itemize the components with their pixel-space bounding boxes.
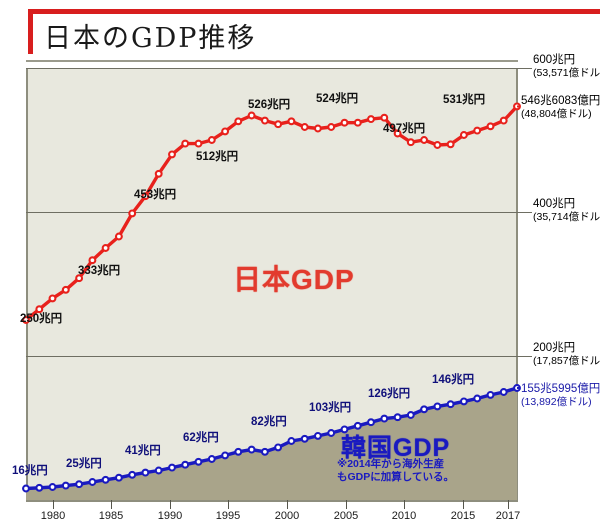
yaxis-label-japan-end-main: 546兆6083億円 bbox=[521, 95, 600, 108]
plot-right-edge bbox=[516, 68, 518, 500]
korea-footnote-line1: ※2014年から海外生産 bbox=[337, 458, 513, 471]
gridline-200 bbox=[26, 356, 518, 357]
x-axis-tick-label: 1995 bbox=[216, 510, 240, 522]
yaxis-label-korea-end-sub: (13,892億ドル) bbox=[521, 396, 600, 408]
title-rule-left bbox=[28, 9, 33, 54]
korea-value-label: 62兆円 bbox=[183, 429, 219, 445]
japan-value-label: 250兆円 bbox=[20, 310, 62, 326]
yaxis-label-korea-end-main: 155兆5995億円 bbox=[521, 383, 600, 396]
japan-value-label: 524兆円 bbox=[316, 90, 358, 106]
japan-value-label: 333兆円 bbox=[78, 262, 120, 278]
title-rule-top bbox=[28, 9, 600, 14]
japan-value-label: 512兆円 bbox=[196, 148, 238, 164]
yaxis-label-japan-end-sub: (48,804億ドル) bbox=[521, 108, 600, 120]
x-axis-tick bbox=[111, 500, 112, 509]
yaxis-label-japan-end: 546兆6083億円 (48,804億ドル) bbox=[521, 95, 600, 120]
x-axis-tick-label: 2010 bbox=[392, 510, 416, 522]
korea-footnote-line2: もGDPに加算している。 bbox=[337, 471, 513, 484]
yaxis-label-200-main: 200兆円 bbox=[533, 342, 600, 355]
x-axis-tick-label: 1985 bbox=[99, 510, 123, 522]
yaxis-label-200-sub: (17,857億ドル) bbox=[533, 355, 600, 367]
korea-value-label: 103兆円 bbox=[309, 399, 351, 415]
korea-value-label: 25兆円 bbox=[66, 455, 102, 471]
yaxis-label-200: 200兆円 (17,857億ドル) bbox=[533, 342, 600, 367]
x-axis-tick-label: 1990 bbox=[158, 510, 182, 522]
korea-value-label: 146兆円 bbox=[432, 371, 474, 387]
yaxis-label-600: 600兆円 (53,571億ドル) bbox=[533, 54, 600, 79]
page-title: 日本のGDP推移 bbox=[44, 16, 256, 55]
x-axis: 198019851990199520002005201020152017 bbox=[0, 500, 600, 527]
japan-series-title: 日本GDP bbox=[233, 258, 355, 298]
x-axis-tick-label: 1980 bbox=[41, 510, 65, 522]
korea-value-label: 16兆円 bbox=[12, 462, 48, 478]
leader-400 bbox=[518, 212, 532, 213]
yaxis-label-400-main: 400兆円 bbox=[533, 198, 600, 211]
x-axis-tick-label: 2005 bbox=[334, 510, 358, 522]
x-axis-tick bbox=[346, 500, 347, 509]
gridline-400 bbox=[26, 212, 518, 213]
korea-value-label: 41兆円 bbox=[125, 442, 161, 458]
japan-value-label: 526兆円 bbox=[248, 96, 290, 112]
yaxis-label-600-sub: (53,571億ドル) bbox=[533, 67, 600, 79]
japan-value-label: 453兆円 bbox=[134, 186, 176, 202]
japan-value-label: 531兆円 bbox=[443, 91, 485, 107]
yaxis-label-korea-end: 155兆5995億円 (13,892億ドル) bbox=[521, 383, 600, 408]
x-axis-tick-label: 2015 bbox=[451, 510, 475, 522]
gridline-600 bbox=[26, 68, 518, 69]
title-underline bbox=[26, 60, 518, 62]
x-axis-tick bbox=[463, 500, 464, 509]
x-axis-tick bbox=[287, 500, 288, 509]
japan-value-label: 497兆円 bbox=[383, 120, 425, 136]
chart-page: 日本のGDP推移 600兆円 (53,571億ドル) 546兆6083億円 (4… bbox=[0, 0, 600, 527]
x-axis-tick bbox=[228, 500, 229, 509]
korea-footnote: ※2014年から海外生産 もGDPに加算している。 bbox=[337, 458, 513, 484]
x-axis-tick bbox=[508, 500, 509, 509]
title-block: 日本のGDP推移 bbox=[0, 0, 600, 62]
yaxis-label-600-main: 600兆円 bbox=[533, 54, 600, 67]
x-axis-tick bbox=[404, 500, 405, 509]
leader-600 bbox=[518, 68, 532, 69]
leader-200 bbox=[518, 356, 532, 357]
x-axis-tick-label: 2000 bbox=[275, 510, 299, 522]
korea-value-label: 126兆円 bbox=[368, 385, 410, 401]
korea-value-label: 82兆円 bbox=[251, 413, 287, 429]
x-axis-tick bbox=[170, 500, 171, 509]
yaxis-label-400: 400兆円 (35,714億ドル) bbox=[533, 198, 600, 223]
x-axis-tick-label: 2017 bbox=[496, 510, 520, 522]
yaxis-label-400-sub: (35,714億ドル) bbox=[533, 211, 600, 223]
x-axis-tick bbox=[53, 500, 54, 509]
